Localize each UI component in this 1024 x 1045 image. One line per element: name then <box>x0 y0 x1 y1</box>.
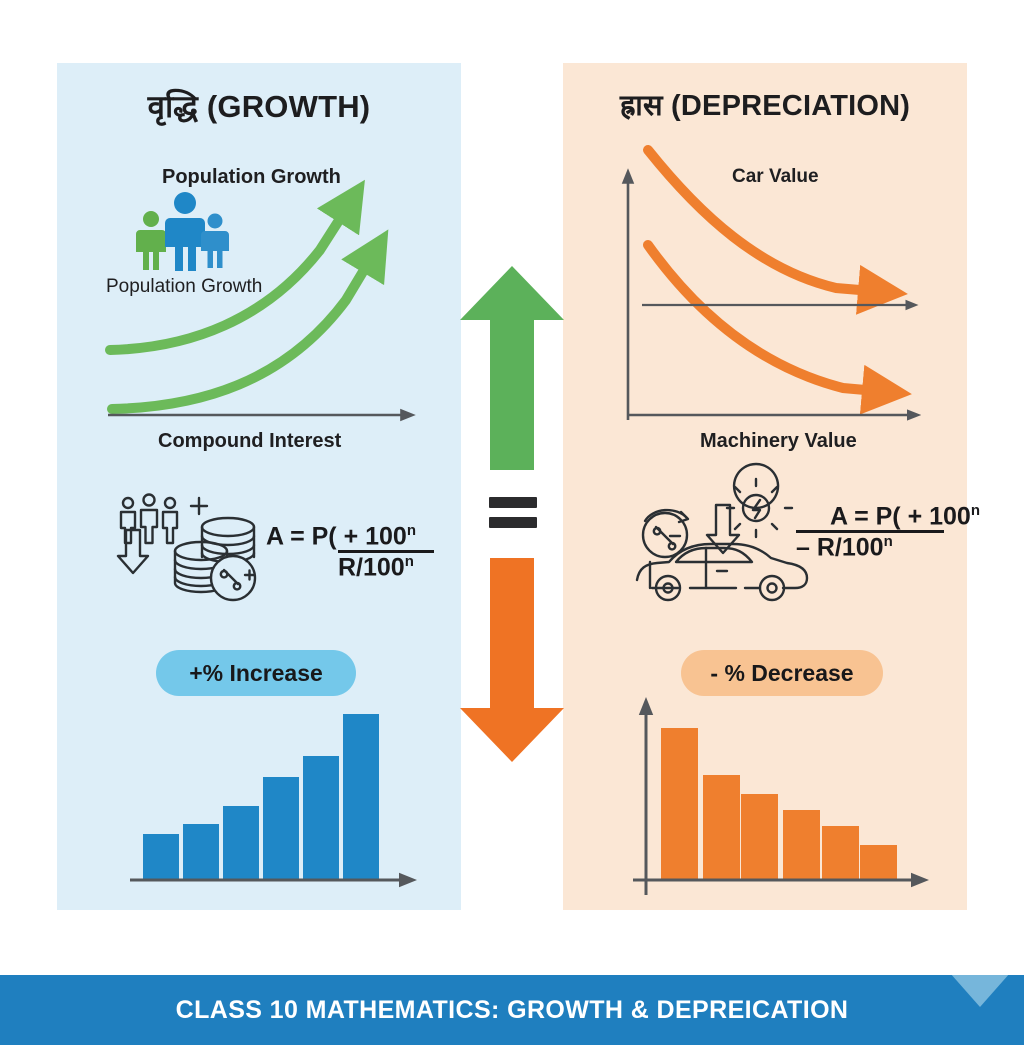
banner-fold-decoration <box>950 975 1010 1007</box>
label-population-growth-top: Population Growth <box>162 166 341 189</box>
growth-formula: A = P( + 100n R/100n <box>266 523 434 580</box>
bottom-banner-text: CLASS 10 MATHEMATICS: GROWTH & DEPREICAT… <box>176 996 849 1025</box>
infographic-canvas: वृद्धि (GROWTH) ह्रास (DEPRECIATION) <box>0 0 1024 1024</box>
growth-formula-denominator: R/100 <box>338 553 405 581</box>
label-machinery-value: Machinery Value <box>700 430 857 453</box>
growth-panel: वृद्धि (GROWTH) <box>57 63 461 910</box>
depreciation-panel-title: ह्रास (DEPRECIATION) <box>563 85 967 124</box>
label-population-growth-bottom: Population Growth <box>106 276 262 298</box>
increase-badge: +% Increase <box>156 650 356 696</box>
label-car-value: Car Value <box>732 166 819 188</box>
decrease-badge: - % Decrease <box>681 650 883 696</box>
label-compound-interest: Compound Interest <box>158 430 341 453</box>
equals-sign-icon <box>489 497 537 528</box>
depreciation-formula: A = P( + 100n – R/100n <box>796 503 980 560</box>
growth-panel-title: वृद्धि (GROWTH) <box>57 85 461 127</box>
depreciation-formula-denominator-exponent: n <box>884 533 893 550</box>
depreciation-panel: ह्रास (DEPRECIATION) <box>563 63 967 910</box>
growth-formula-numerator-exponent: n <box>407 522 416 539</box>
down-arrow-icon <box>460 558 564 762</box>
bottom-banner: CLASS 10 MATHEMATICS: GROWTH & DEPREICAT… <box>0 975 1024 1045</box>
depreciation-formula-denominator: – R/100 <box>796 533 884 561</box>
growth-formula-numerator: A = P( + 100 <box>266 522 407 550</box>
up-arrow-icon <box>460 266 564 470</box>
depreciation-formula-numerator: A = P( + 100 <box>830 502 971 530</box>
growth-formula-denominator-exponent: n <box>405 553 414 570</box>
depreciation-formula-numerator-exponent: n <box>971 502 980 519</box>
